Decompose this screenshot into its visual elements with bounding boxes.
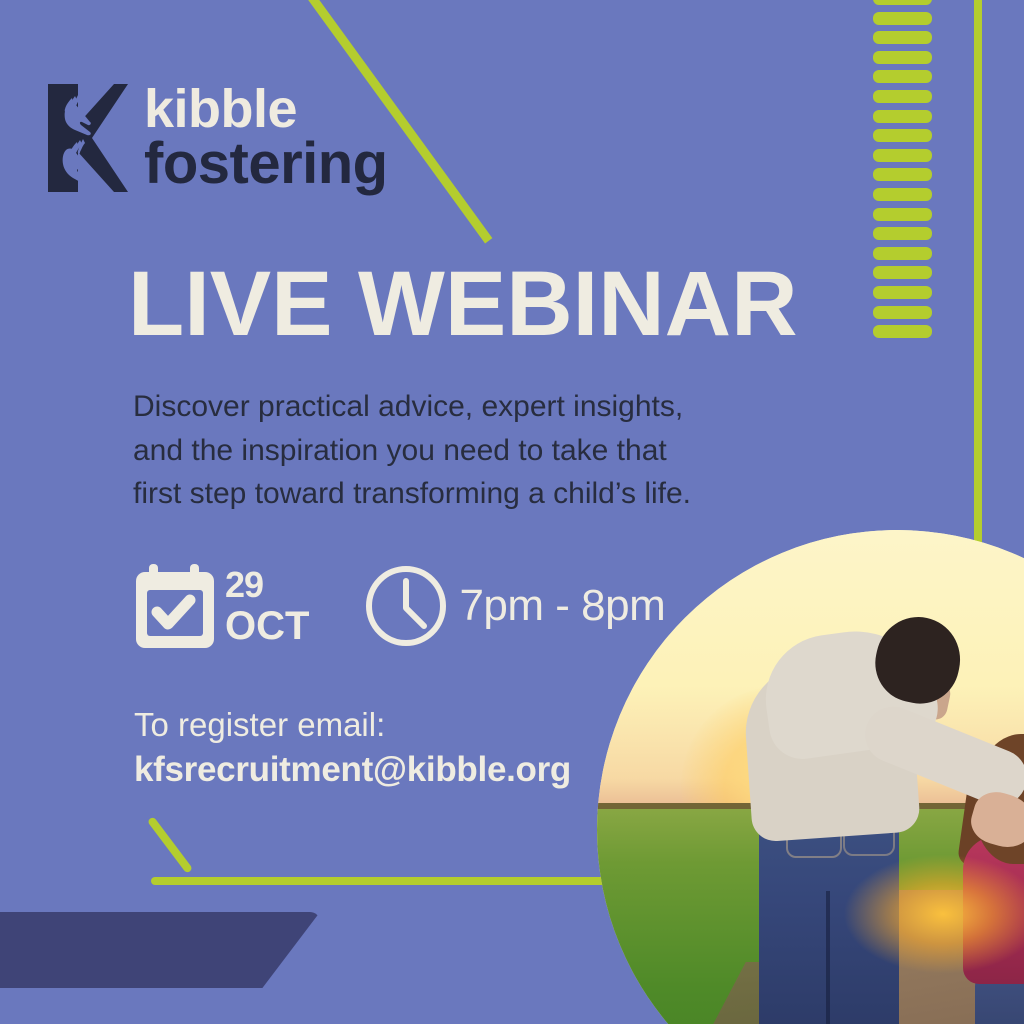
ladder-bar: [873, 208, 932, 221]
event-time-text: 7pm - 8pm: [459, 581, 665, 631]
ladder-bar: [873, 129, 932, 142]
bracket-horizontal-segment: [151, 877, 610, 885]
kibble-k-hands-logo-icon: [42, 82, 130, 194]
ladder-bar: [873, 227, 932, 240]
clock-icon: [363, 563, 449, 649]
ladder-bar: [873, 110, 932, 123]
event-date-day: 29: [225, 567, 309, 603]
description-line-3: first step toward transforming a child’s…: [133, 472, 833, 516]
indigo-bottom-banner: [0, 912, 320, 988]
ladder-bar: [873, 51, 932, 64]
green-vertical-line: [974, 0, 982, 586]
description-line-2: and the inspiration you need to take tha…: [133, 429, 833, 473]
event-date-month: OCT: [225, 606, 309, 646]
event-time: 7pm - 8pm: [363, 563, 665, 649]
ladder-bar: [873, 0, 932, 5]
webinar-poster: kibble fostering LIVE WEBINAR Discover p…: [0, 0, 1024, 1024]
brand-name-fostering: fostering: [144, 137, 388, 190]
register-block: To register email: kfsrecruitment@kibble…: [134, 704, 571, 792]
description-line-1: Discover practical advice, expert insigh…: [133, 385, 833, 429]
ladder-bar: [873, 247, 932, 260]
ladder-bar: [873, 188, 932, 201]
event-meta-row: 29 OCT 7pm - 8pm: [133, 562, 665, 650]
page-title: LIVE WEBINAR: [128, 258, 798, 350]
ladder-bar: [873, 306, 932, 319]
event-date-text: 29 OCT: [225, 567, 309, 646]
ladder-bar: [873, 286, 932, 299]
green-ladder-bars: [873, 0, 932, 352]
register-label: To register email:: [134, 704, 571, 747]
ladder-bar: [873, 70, 932, 83]
ladder-bar: [873, 325, 932, 338]
green-corner-bracket: [140, 810, 610, 885]
description-text: Discover practical advice, expert insigh…: [133, 385, 833, 516]
brand-wordmark: kibble fostering: [144, 85, 388, 190]
ladder-bar: [873, 149, 932, 162]
brand-name-kibble: kibble: [144, 85, 388, 135]
ladder-bar: [873, 12, 932, 25]
calendar-check-icon: [133, 562, 217, 650]
bracket-diagonal-segment: [147, 816, 193, 874]
ladder-bar: [873, 168, 932, 181]
register-email[interactable]: kfsrecruitment@kibble.org: [134, 747, 571, 793]
brand-logo: kibble fostering: [42, 82, 388, 194]
ladder-bar: [873, 266, 932, 279]
event-date: 29 OCT: [133, 562, 309, 650]
ladder-bar: [873, 90, 932, 103]
ladder-bar: [873, 31, 932, 44]
